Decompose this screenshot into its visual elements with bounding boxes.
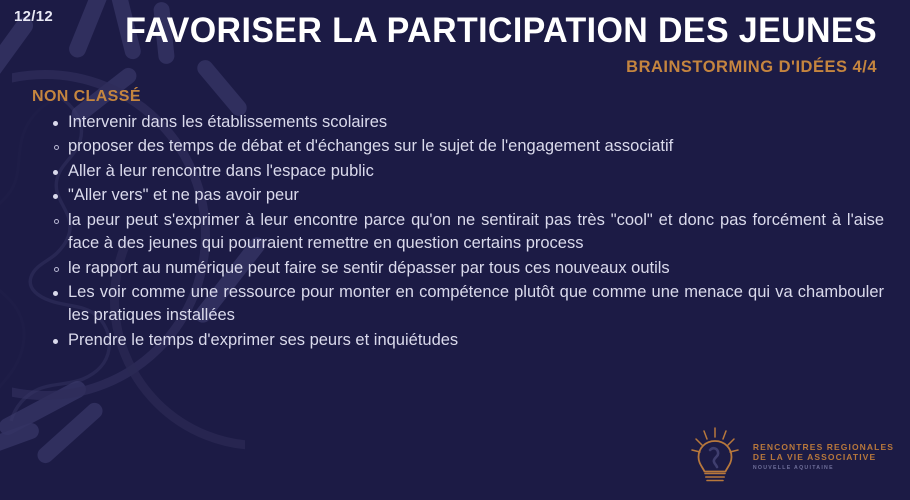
page-subtitle: BRAINSTORMING D'IDÉES 4/4 [0, 58, 877, 77]
list-item: proposer des temps de débat et d'échange… [32, 135, 884, 158]
list-item: Les voir comme une ressource pour monter… [32, 281, 884, 328]
list-item-text: Aller à leur rencontre dans l'espace pub… [68, 160, 884, 183]
list-item-text: Intervenir dans les établissements scola… [68, 111, 884, 134]
decor-ray [0, 378, 89, 438]
bullet-sublist: proposer des temps de débat et d'échange… [32, 135, 884, 158]
logo-line-2: DE LA VIE ASSOCIATIVE [753, 452, 894, 462]
section-label: NON CLASSÉ [32, 88, 884, 106]
list-item: "Aller vers" et ne pas avoir peur [32, 184, 884, 207]
list-item: Intervenir dans les établissements scola… [32, 111, 884, 134]
list-item-text: "Aller vers" et ne pas avoir peur [68, 184, 884, 207]
logo-line-1: RENCONTRES REGIONALES [753, 442, 894, 452]
list-item: la peur peut s'exprimer à leur encontre … [32, 209, 884, 256]
lightbulb-icon [688, 426, 744, 488]
page-title: FAVORISER LA PARTICIPATION DES JEUNES [26, 12, 877, 50]
list-item-text: la peur peut s'exprimer à leur encontre … [68, 209, 884, 256]
list-item-text: Prendre le temps d'exprimer ses peurs et… [68, 329, 884, 352]
logo-text-block: RENCONTRES REGIONALES DE LA VIE ASSOCIAT… [753, 442, 894, 471]
list-item: Aller à leur rencontre dans l'espace pub… [32, 160, 884, 183]
logo-line-3: NOUVELLE AQUITAINE [753, 465, 894, 471]
list-item: le rapport au numérique peut faire se se… [32, 257, 884, 280]
page-counter: 12/12 [14, 8, 53, 25]
brand-logo: RENCONTRES REGIONALES DE LA VIE ASSOCIAT… [688, 426, 894, 488]
decor-ray [0, 421, 41, 465]
bullet-list-root: Intervenir dans les établissements scola… [32, 111, 884, 352]
slide-content: NON CLASSÉ Intervenir dans les établisse… [32, 88, 884, 353]
slide-header: FAVORISER LA PARTICIPATION DES JEUNES BR… [0, 12, 910, 77]
list-item-text: proposer des temps de débat et d'échange… [68, 135, 884, 158]
slide-canvas: 12/12 FAVORISER LA PARTICIPATION DES JEU… [0, 0, 910, 500]
list-item-text: Les voir comme une ressource pour monter… [68, 281, 884, 328]
list-item: Prendre le temps d'exprimer ses peurs et… [32, 329, 884, 352]
bullet-sublist: la peur peut s'exprimer à leur encontre … [32, 209, 884, 280]
list-item-text: le rapport au numérique peut faire se se… [68, 257, 884, 280]
decor-ray [34, 400, 106, 467]
